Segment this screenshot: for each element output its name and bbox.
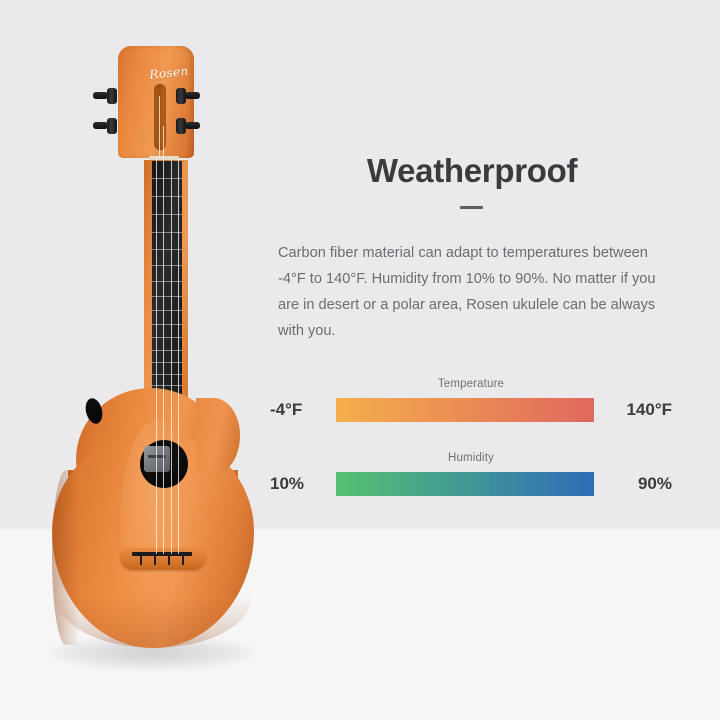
product-feature-image: Rosen — [0, 0, 720, 720]
temperature-gauge: Temperature -4°F 140°F — [270, 378, 672, 424]
ukulele-string-1 — [156, 158, 157, 554]
tuning-peg-2 — [93, 122, 108, 129]
tuning-peg-3 — [185, 92, 200, 99]
ukulele-product-photo: Rosen — [0, 0, 300, 720]
tuner-button-1 — [107, 88, 117, 104]
headstock-slot — [154, 84, 166, 150]
tuner-button-2 — [107, 118, 117, 134]
page-title: Weatherproof — [262, 152, 682, 190]
tuner-button-4 — [176, 118, 186, 134]
humidity-gauge-label: Humidity — [270, 452, 672, 464]
temperature-max-value: 140°F — [602, 400, 672, 420]
ukulele-string-4 — [178, 158, 179, 554]
title-divider — [460, 206, 483, 209]
humidity-gauge-row: 10% 90% — [270, 470, 672, 498]
headstock-string-1 — [159, 96, 160, 158]
headstock-string-2 — [163, 126, 164, 158]
ukulele-cutaway — [196, 398, 240, 472]
humidity-gradient-bar — [336, 472, 594, 496]
ukulele-string-3 — [171, 158, 172, 554]
feature-text-panel: Weatherproof Carbon fiber material can a… — [262, 0, 720, 720]
temperature-gradient-bar — [336, 398, 594, 422]
humidity-gauge: Humidity 10% 90% — [270, 452, 672, 498]
ukulele-string-2 — [163, 158, 164, 554]
tuning-peg-4 — [185, 122, 200, 129]
temperature-min-value: -4°F — [270, 400, 328, 420]
humidity-min-value: 10% — [270, 474, 328, 494]
tuning-peg-1 — [93, 92, 108, 99]
ukulele-pickup — [144, 446, 170, 472]
humidity-max-value: 90% — [602, 474, 672, 494]
temperature-gauge-row: -4°F 140°F — [270, 396, 672, 424]
temperature-gauge-label: Temperature — [270, 378, 672, 390]
feature-description: Carbon fiber material can adapt to tempe… — [278, 240, 678, 344]
tuner-button-3 — [176, 88, 186, 104]
